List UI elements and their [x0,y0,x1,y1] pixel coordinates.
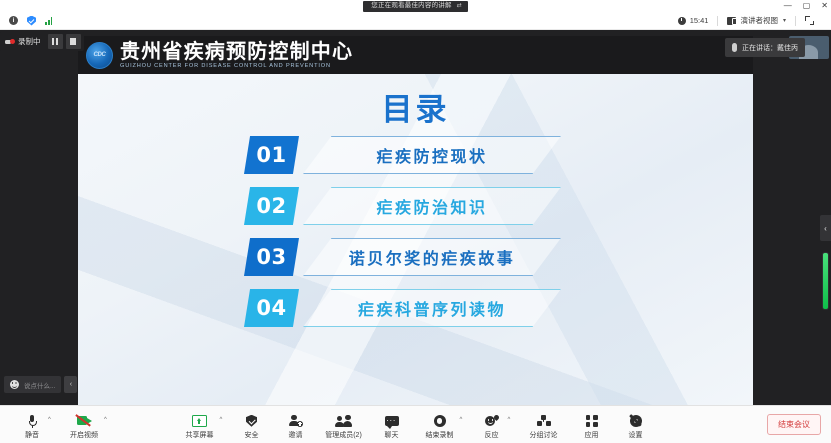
toolbar-center-group: 共享屏幕 ^ 安全 邀请 管理成员(2) [0,409,831,440]
toc-item: 02 疟疾防治知识 [78,187,753,225]
toc-number-badge: 04 [244,289,299,327]
fullscreen-button[interactable] [796,16,823,25]
reactions-button[interactable]: 反应 [470,409,514,440]
pause-recording-button[interactable] [48,34,63,49]
security-shield-icon [246,413,257,428]
reactions-label: 反应 [485,430,499,440]
pause-icon [52,38,58,45]
fullscreen-icon [805,16,814,25]
active-speaker-label: 正在讲话：戴佳丙 [742,43,798,53]
toc-title-bar: 疟疾防治知识 [303,187,561,225]
window-controls: — ▢ ✕ [784,0,828,12]
speaker-view-icon [727,17,736,25]
recording-indicator-bar: 录制中 [0,32,84,51]
toolbar-right-group: 结束会议 [767,414,831,435]
reactions-icon [485,413,498,428]
chat-input-placeholder: 说点什么... [24,380,55,390]
settings-gear-icon [630,413,642,428]
share-screen-button[interactable]: 共享屏幕 [174,409,226,440]
zoom-meeting-window: 您正在观看最佳内容的讲解 ⇄ — ▢ ✕ i 15:41 演讲者视图 ▾ [0,0,831,443]
audio-level-meter [822,252,829,310]
breakout-rooms-button[interactable]: 分组讨论 [518,409,570,440]
encryption-shield-icon[interactable] [27,16,36,26]
meeting-toolbar: 静音 ^ 开启视频 ^ 共享屏幕 ^ 安全 [0,405,831,443]
chat-collapse-button[interactable]: ‹ [64,376,77,393]
slide-title-text: 目录 [382,92,450,128]
manage-participants-label: 管理成员(2) [325,430,362,440]
slide-header: CDC 贵州省疾病预防控制中心 GUIZHOU CENTER FOR DISEA… [78,36,753,74]
apps-button[interactable]: 应用 [570,409,614,440]
toc-item-text: 疟疾科普序列读物 [358,296,506,320]
toc-number-badge: 02 [244,187,299,225]
chevron-left-icon: ‹ [70,381,72,388]
minimize-button[interactable]: — [784,2,792,10]
organization-name-cn: 贵州省疾病预防控制中心 [120,41,353,62]
window-title-pill: 您正在观看最佳内容的讲解 ⇄ [363,1,467,12]
toc-number: 02 [256,194,286,218]
toc-title-bar: 疟疾科普序列读物 [303,289,561,327]
apps-grid-icon [586,413,598,428]
meeting-time-group: 15:41 [669,16,718,25]
organization-names: 贵州省疾病预防控制中心 GUIZHOU CENTER FOR DISEASE C… [120,41,353,70]
toc-number-badge: 03 [244,238,299,276]
top-status-right-group: 15:41 演讲者视图 ▾ [669,15,831,26]
active-speaker-indicator: 正在讲话：戴佳丙 [725,38,805,57]
view-selector-label: 演讲者视图 [740,15,778,26]
chat-label: 聊天 [385,430,399,440]
stop-recording-icon [434,413,446,428]
chat-button[interactable]: 聊天 [370,409,414,440]
meeting-elapsed-time: 15:41 [690,16,709,25]
toc-number: 01 [256,143,286,167]
invite-button[interactable]: 邀请 [274,409,318,440]
share-screen-icon [192,413,207,428]
microphone-icon [732,43,737,52]
manage-participants-icon [336,413,351,428]
toc-item-text: 诺贝尔奖的疟疾故事 [349,245,516,269]
chat-input-wrapper[interactable]: 说点什么... [4,376,61,393]
apps-label: 应用 [585,430,599,440]
clock-icon [678,17,686,25]
toc-number: 03 [256,245,286,269]
view-selector[interactable]: 演讲者视图 ▾ [718,15,795,26]
breakout-rooms-label: 分组讨论 [530,430,558,440]
settings-button[interactable]: 设置 [614,409,658,440]
breakout-rooms-icon [537,413,551,428]
chevron-left-icon: ‹ [824,224,827,233]
toc-number: 04 [256,296,286,320]
toc-item-text: 疟疾防控现状 [376,143,487,167]
cdc-logo-text: CDC [93,52,105,58]
chat-bubble-icon [385,413,399,428]
recording-status: 录制中 [3,36,45,47]
recording-label: 录制中 [18,36,41,47]
close-button[interactable]: ✕ [821,2,828,10]
stop-recording-button[interactable]: 结束录制 [414,409,466,440]
security-label: 安全 [245,430,259,440]
table-of-contents: 01 疟疾防控现状 02 疟疾防治知识 [78,136,753,340]
panel-collapse-button[interactable]: ‹ [820,215,831,241]
os-title-bar: 您正在观看最佳内容的讲解 ⇄ — ▢ ✕ [0,0,831,12]
toc-title-bar: 疟疾防控现状 [303,136,561,174]
toc-item: 01 疟疾防控现状 [78,136,753,174]
share-screen-label: 共享屏幕 [186,430,214,440]
toc-number-badge: 01 [244,136,299,174]
window-title-text: 您正在观看最佳内容的讲解 [371,1,451,11]
toc-title-bar: 诺贝尔奖的疟疾故事 [303,238,561,276]
toc-item: 04 疟疾科普序列读物 [78,289,753,327]
toc-item-text: 疟疾防治知识 [376,194,487,218]
maximize-button[interactable]: ▢ [803,2,811,10]
cdc-logo-icon: CDC [86,42,113,69]
recording-dot-icon [5,38,15,46]
meeting-top-status-bar: i 15:41 演讲者视图 ▾ [0,12,831,30]
meeting-info-icon[interactable]: i [9,16,18,25]
settings-label: 设置 [629,430,643,440]
shared-screen-slide[interactable]: CDC 贵州省疾病预防控制中心 GUIZHOU CENTER FOR DISEA… [78,36,753,405]
meeting-stage: 录制中 CDC 贵州省疾病预防控制中心 GUIZHOU CENTER FOR D… [0,30,831,405]
emoji-icon[interactable] [10,380,19,389]
end-meeting-button[interactable]: 结束会议 [767,414,821,435]
top-status-left-icons: i [0,16,52,26]
invite-person-icon [289,413,302,428]
stop-recording-button[interactable] [66,34,81,49]
network-signal-icon[interactable] [45,16,52,25]
stop-recording-label: 结束录制 [426,430,454,440]
chevron-down-icon: ▾ [783,17,786,24]
invite-label: 邀请 [289,430,303,440]
chat-mini-composer: 说点什么... ‹ [4,376,77,393]
security-button[interactable]: 安全 [230,409,274,440]
slide-title: 目录 [78,84,753,129]
stop-icon [70,38,77,45]
window-title-arrow-icon: ⇄ [457,1,462,11]
toc-item: 03 诺贝尔奖的疟疾故事 [78,238,753,276]
organization-name-en: GUIZHOU CENTER FOR DISEASE CONTROL AND P… [120,62,353,70]
manage-participants-button[interactable]: 管理成员(2) [318,409,370,440]
